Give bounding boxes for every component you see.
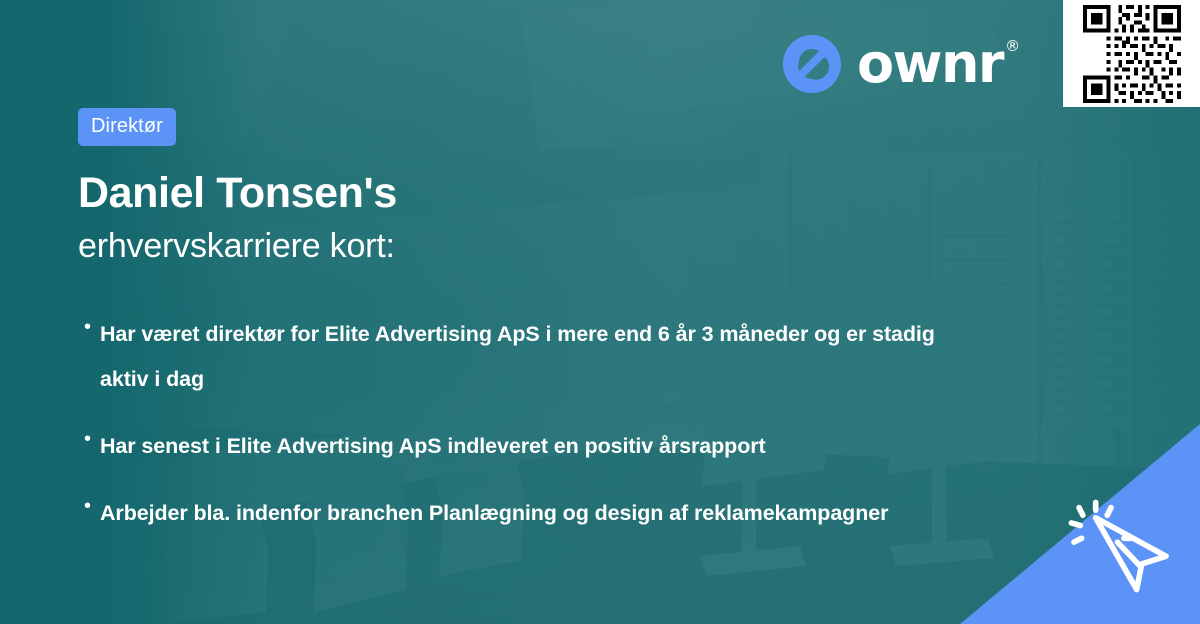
bullet-dot-icon: • [84, 491, 100, 522]
ownr-wordmark: ownr ® [857, 37, 1003, 91]
list-item: • Arbejder bla. indenfor branchen Planlæ… [84, 491, 944, 536]
ownr-circle-swirl-icon [781, 33, 843, 95]
role-badge: Direktør [78, 108, 176, 146]
list-item-text: Arbejder bla. indenfor branchen Planlægn… [100, 491, 888, 536]
page-subtitle: erhvervskarriere kort: [78, 229, 958, 263]
ownr-wordmark-text: ownr [857, 32, 1003, 95]
ownr-logo: ownr ® [781, 33, 1003, 95]
click-cursor-icon [1056, 482, 1184, 610]
list-item-text: Har været direktør for Elite Advertising… [100, 312, 944, 402]
qr-code-icon [1083, 5, 1181, 103]
list-item: • Har været direktør for Elite Advertisi… [84, 312, 944, 402]
headline-block: Direktør Daniel Tonsen's erhvervskarrier… [78, 108, 958, 263]
page-title: Daniel Tonsen's [78, 172, 958, 215]
business-card-banner: ownr ® [0, 0, 1200, 624]
career-bullet-list: • Har været direktør for Elite Advertisi… [84, 312, 944, 536]
list-item-text: Har senest i Elite Advertising ApS indle… [100, 424, 766, 469]
qr-code-panel[interactable] [1063, 0, 1200, 107]
registered-mark: ® [1005, 39, 1020, 54]
bullet-dot-icon: • [84, 312, 100, 343]
bullet-dot-icon: • [84, 424, 100, 455]
list-item: • Har senest i Elite Advertising ApS ind… [84, 424, 944, 469]
